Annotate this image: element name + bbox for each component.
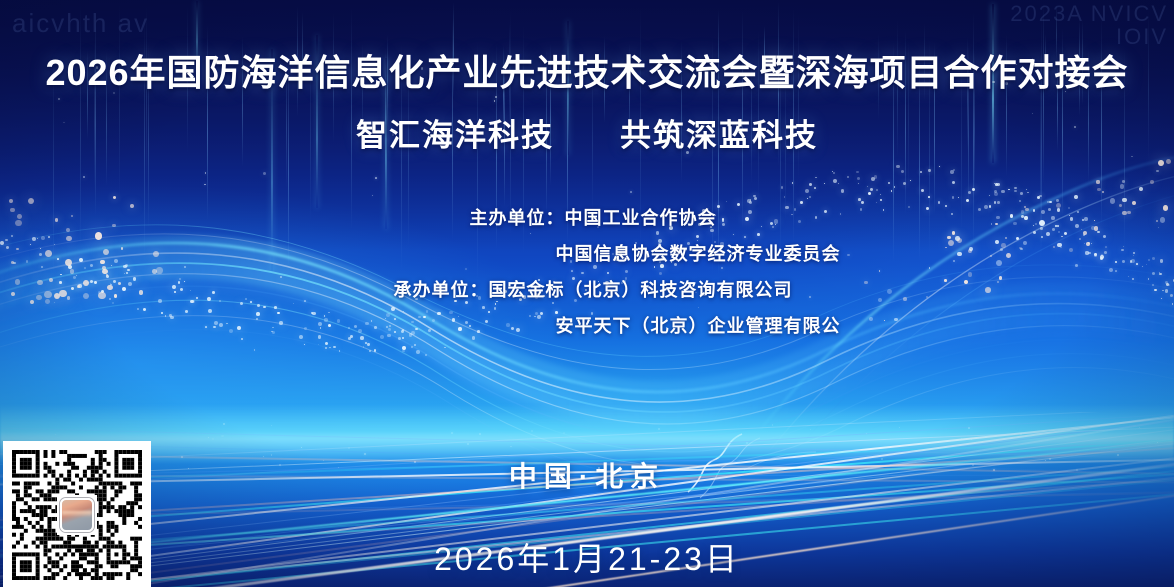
qr-code-center-logo bbox=[60, 498, 94, 532]
qr-code[interactable] bbox=[3, 441, 151, 587]
main-title: 2026年国防海洋信息化产业先进技术交流会暨深海项目合作对接会 bbox=[0, 44, 1174, 96]
organizer-line-3: 承办单位：国宏金标（北京）科技咨询有限公司 bbox=[0, 272, 1174, 308]
date-label: 2026年1月21-23日 bbox=[0, 534, 1174, 580]
organizer-line-2: 中国信息协会数字经济专业委员会 bbox=[0, 236, 1174, 272]
subtitle: 智汇海洋科技共筑深蓝科技 bbox=[0, 110, 1174, 155]
conference-poster: aicvhth av 2023A NVICV IOIV 2026年国防海洋信息化… bbox=[0, 0, 1174, 587]
poster-content: 2026年国防海洋信息化产业先进技术交流会暨深海项目合作对接会 智汇海洋科技共筑… bbox=[0, 0, 1174, 587]
subtitle-left: 智汇海洋科技 bbox=[356, 118, 554, 153]
organizer-block: 主办单位：中国工业合作协会中国信息协会数字经济专业委员会承办单位：国宏金标（北京… bbox=[0, 200, 1174, 344]
subtitle-right: 共筑深蓝科技 bbox=[620, 118, 818, 153]
organizer-line-4: 安平天下（北京）企业管理有限公 bbox=[0, 308, 1174, 344]
qr-code-canvas bbox=[12, 450, 142, 580]
city-label: 中国·北京 bbox=[0, 455, 1174, 495]
organizer-line-1: 主办单位：中国工业合作协会 bbox=[0, 200, 1174, 236]
